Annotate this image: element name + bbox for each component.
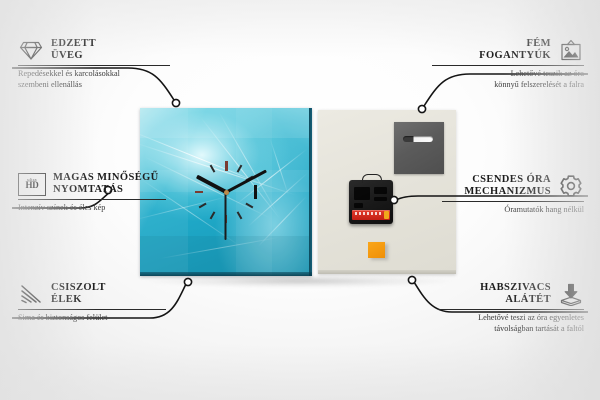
infographic-canvas: EDZETT ÜVEG Repedésekkel és karcolásokka…: [0, 0, 600, 400]
clock-back-panel: [318, 110, 456, 274]
foam-pad-arrow-icon: [558, 282, 584, 306]
feature-title-line1: EDZETT: [51, 38, 96, 49]
product-image: [140, 108, 456, 280]
divider: [18, 199, 166, 200]
divider: [432, 65, 584, 66]
clock-center-cap: [224, 190, 229, 195]
feature-title-line2: FOGANTYÚK: [479, 50, 551, 61]
feature-subtitle-line1: Óramutatók hang nélkül: [504, 205, 584, 214]
feature-polished-edges: CSISZOLT ÉLEK Sima és biztonságos felüle…: [18, 282, 166, 324]
foam-pad: [368, 242, 385, 258]
feature-subtitle-line1: Lehetővé teszik az óra: [511, 69, 584, 78]
polished-edges-icon: [18, 282, 44, 306]
divider: [18, 309, 166, 310]
feature-title-line2: MECHANIZMUS: [464, 186, 551, 197]
feature-subtitle-line2: könnyű felszerelését a falra: [494, 80, 584, 89]
glass-edge: [309, 108, 312, 276]
feature-title-line1: HABSZIVACS: [480, 282, 551, 293]
ultra-hd-icon-big-label: HD: [25, 181, 38, 190]
mechanism-hook: [362, 174, 382, 183]
feature-foam-pad: HABSZIVACS ALÁTÉT Lehetővé teszi az óra …: [438, 282, 584, 334]
feature-title-line1: MAGAS MINŐSÉGŰ: [53, 172, 159, 183]
feature-subtitle-line2: távolságban tartását a faltól: [494, 324, 584, 333]
feature-subtitle-line2: szembeni ellenállás: [18, 80, 82, 89]
feature-subtitle-line1: Intenzív színek és éles kép: [18, 203, 105, 212]
feature-silent-mechanism: CSENDES ÓRA MECHANIZMUS Óramutatók hang …: [442, 174, 584, 216]
feature-metal-handles: FÉM FOGANTYÚK Lehetővé teszik az óra kön…: [432, 38, 584, 90]
feature-subtitle-line1: Sima és biztonságos felület: [18, 313, 107, 322]
ultra-hd-icon: ultra HD: [18, 173, 46, 196]
divider: [442, 201, 584, 202]
feature-title-line2: ÉLEK: [51, 294, 82, 305]
feature-title-line1: CSISZOLT: [51, 282, 106, 293]
divider: [438, 309, 584, 310]
divider: [18, 65, 170, 66]
gear-icon: [558, 174, 584, 198]
metal-hanger-plate: [394, 122, 444, 174]
feature-subtitle-line1: Lehetővé teszi az óra egyenletes: [478, 313, 584, 322]
battery: [352, 210, 390, 220]
feature-title-line1: FÉM: [526, 38, 551, 49]
product-shadow: [134, 276, 464, 290]
hanger-keyhole-slot: [403, 136, 433, 142]
quartz-mechanism: [349, 180, 393, 224]
glass-bottom-edge: [140, 272, 312, 276]
feature-subtitle-line1: Repedésekkel és karcolásokkal: [18, 69, 120, 78]
diamond-icon: [18, 38, 44, 62]
feature-high-quality-print: ultra HD MAGAS MINŐSÉGŰ NYOMTATÁS Intenz…: [18, 172, 166, 214]
connector-dot-tempered-glass: [172, 99, 179, 106]
picture-frame-hanging-icon: [558, 38, 584, 62]
feature-tempered-glass: EDZETT ÜVEG Repedésekkel és karcolásokka…: [18, 38, 170, 90]
feature-title-line2: ÜVEG: [51, 50, 83, 61]
feature-title-line2: NYOMTATÁS: [53, 184, 123, 195]
feature-title-line1: CSENDES ÓRA: [472, 174, 551, 185]
feature-title-line2: ALÁTÉT: [505, 294, 551, 305]
